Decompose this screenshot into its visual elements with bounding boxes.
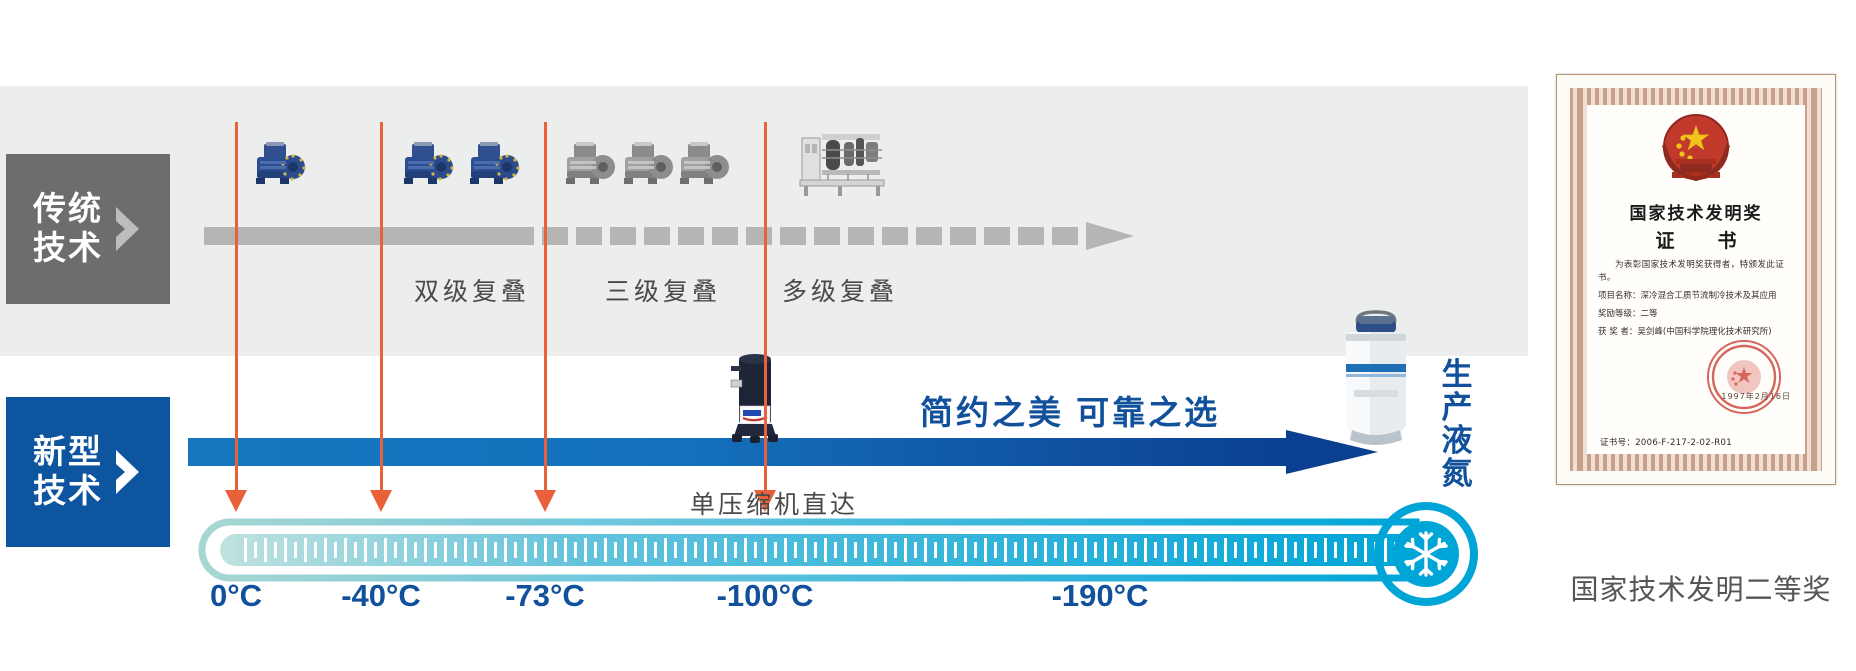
certificate-field-value: 吴剑峰(中国科学院理化技术研究所) xyxy=(1637,326,1794,339)
certificate-intro-text: 为表彰国家技术发明奖获得者，特颁发此证书。 xyxy=(1598,259,1794,285)
infographic-root: 传统 技术 xyxy=(0,0,1856,671)
temperature-tick-label: 0°C xyxy=(210,578,262,614)
liquid-nitrogen-tank-icon xyxy=(1328,304,1424,451)
ln2-production-label: 生产液氮 xyxy=(1437,358,1477,491)
certificate-field-key: 项目名称： xyxy=(1598,290,1641,303)
blue-compressor-icon xyxy=(252,138,308,199)
traditional-tech-label: 传统 技术 xyxy=(33,190,103,268)
china-national-emblem-icon xyxy=(1652,111,1740,195)
certificate-seal-date: 1997年2月16日 xyxy=(1721,391,1791,402)
stage-label-three-stage: 三级复叠 xyxy=(605,272,721,308)
certificate-field-project: 项目名称： 深冷混合工质节流制冷技术及其应用 xyxy=(1598,290,1794,303)
grey-compressor-icon xyxy=(562,138,618,199)
temperature-marker-arrowhead xyxy=(225,490,247,512)
certificate-field-key: 获 奖 者： xyxy=(1598,326,1637,339)
blue-compressor-icon xyxy=(400,138,456,199)
new-tech-slogan: 简约之美 可靠之选 xyxy=(920,386,1220,434)
traditional-tech-tag: 传统 技术 xyxy=(6,154,170,304)
temperature-marker-arrowhead xyxy=(534,490,556,512)
certificate-field-grade: 奖励等级： 二等 xyxy=(1598,308,1794,321)
certificate-field-value: 深冷混合工质节流制冷技术及其应用 xyxy=(1641,290,1794,303)
certificate-border: 国家技术发明奖 证 书 为表彰国家技术发明奖获得者，特颁发此证书。 项目名称： … xyxy=(1570,88,1822,471)
new-tech-label-line2: 技术 xyxy=(33,472,103,511)
traditional-tech-label-line2: 技术 xyxy=(33,229,103,268)
certificate-title: 国家技术发明奖 xyxy=(1630,199,1763,224)
temperature-tick-label: -73°C xyxy=(505,578,585,614)
certificate-number: 证书号：2006-F-217-2-02-R01 xyxy=(1600,436,1732,448)
certificate-subtitle: 证 书 xyxy=(1643,226,1748,253)
temperature-marker-line xyxy=(544,122,547,492)
traditional-tech-label-line1: 传统 xyxy=(33,190,103,229)
single-compressor-label: 单压缩机直达 xyxy=(690,485,858,521)
traditional-progress-arrow xyxy=(204,222,1164,250)
temperature-marker-line xyxy=(764,122,767,492)
new-tech-label: 新型 技术 xyxy=(33,433,103,511)
temperature-marker-arrowhead xyxy=(370,490,392,512)
new-tech-label-line1: 新型 xyxy=(33,433,103,472)
temperature-tick-label: -40°C xyxy=(341,578,421,614)
temperature-tick-label: -100°C xyxy=(717,578,814,614)
certificate-field-value: 二等 xyxy=(1641,308,1794,321)
certificate-body: 为表彰国家技术发明奖获得者，特颁发此证书。 项目名称： 深冷混合工质节流制冷技术… xyxy=(1587,253,1805,339)
certificate-caption: 国家技术发明二等奖 xyxy=(1556,568,1846,608)
chevron-right-icon xyxy=(113,446,143,498)
temperature-scale-bar xyxy=(196,518,1456,584)
scroll-compressor-icon xyxy=(726,348,784,449)
certificate-number-label: 证书号： xyxy=(1600,438,1635,448)
stage-label-multi-stage: 多级复叠 xyxy=(782,272,898,308)
new-tech-tag: 新型 技术 xyxy=(6,397,170,547)
certificate-paper: 国家技术发明奖 证 书 为表彰国家技术发明奖获得者，特颁发此证书。 项目名称： … xyxy=(1587,105,1805,454)
certificate-number-value: 2006-F-217-2-02-R01 xyxy=(1635,438,1732,448)
temperature-tick-label: -190°C xyxy=(1052,578,1149,614)
national-council-seal-icon xyxy=(1707,340,1781,414)
grey-compressor-icon xyxy=(676,138,732,199)
grey-compressor-icon xyxy=(620,138,676,199)
certificate-field-recipient: 获 奖 者： 吴剑峰(中国科学院理化技术研究所) xyxy=(1598,326,1794,339)
snowflake-icon xyxy=(1372,500,1480,613)
multistage-plant-icon xyxy=(798,128,886,205)
temperature-marker-line xyxy=(235,122,238,492)
blue-compressor-icon xyxy=(466,138,522,199)
stage-label-two-stage: 双级复叠 xyxy=(414,272,530,308)
award-certificate: 国家技术发明奖 证 书 为表彰国家技术发明奖获得者，特颁发此证书。 项目名称： … xyxy=(1556,74,1836,485)
certificate-field-key: 奖励等级： xyxy=(1598,308,1641,321)
temperature-marker-line xyxy=(380,122,383,492)
chevron-right-icon xyxy=(113,203,143,255)
